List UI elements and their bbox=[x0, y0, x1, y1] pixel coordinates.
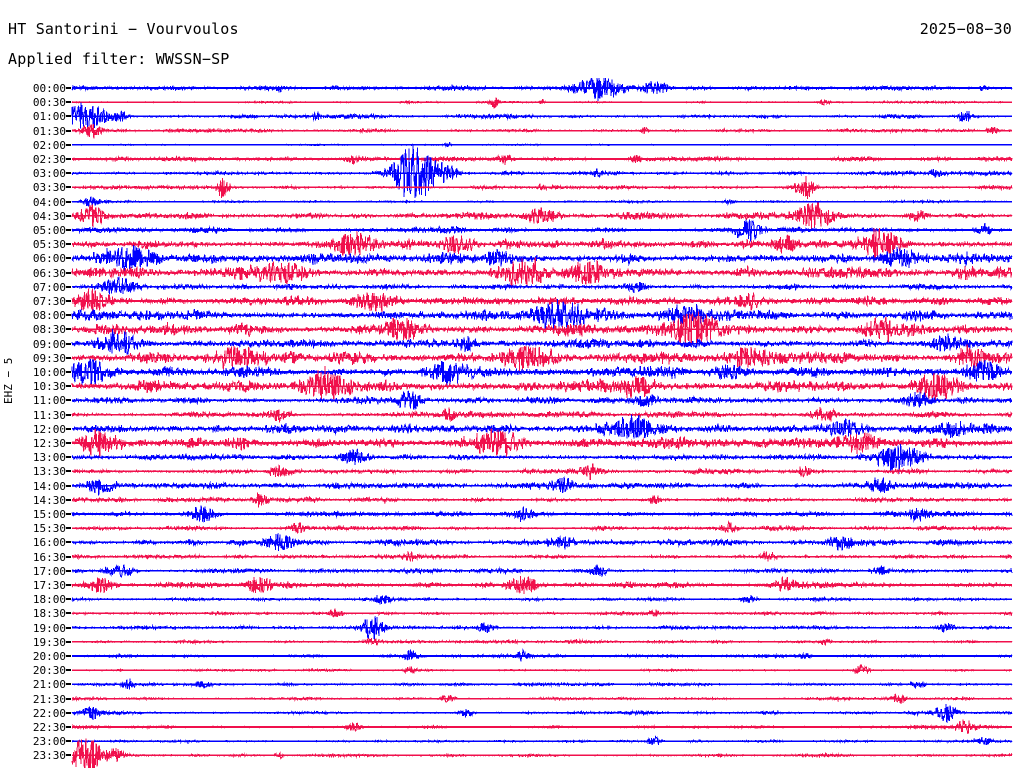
seismogram-page: HT Santorini − Vourvoulos 2025−08−30 App… bbox=[0, 0, 1024, 780]
record-date: 2025−08−30 bbox=[920, 20, 1012, 38]
seismogram-trace bbox=[72, 98, 1012, 108]
seismogram-plot bbox=[0, 78, 1024, 768]
seismogram-trace bbox=[72, 276, 1012, 294]
seismogram-trace bbox=[72, 444, 1012, 474]
seismogram-trace bbox=[72, 155, 1012, 165]
seismogram-trace bbox=[72, 665, 1012, 674]
page-title: HT Santorini − Vourvoulos bbox=[8, 20, 239, 38]
seismogram-trace bbox=[72, 146, 1012, 198]
seismogram-trace bbox=[72, 78, 1012, 101]
seismogram-trace bbox=[72, 738, 1012, 768]
filter-label: Applied filter: WWSSN−SP bbox=[8, 50, 230, 68]
